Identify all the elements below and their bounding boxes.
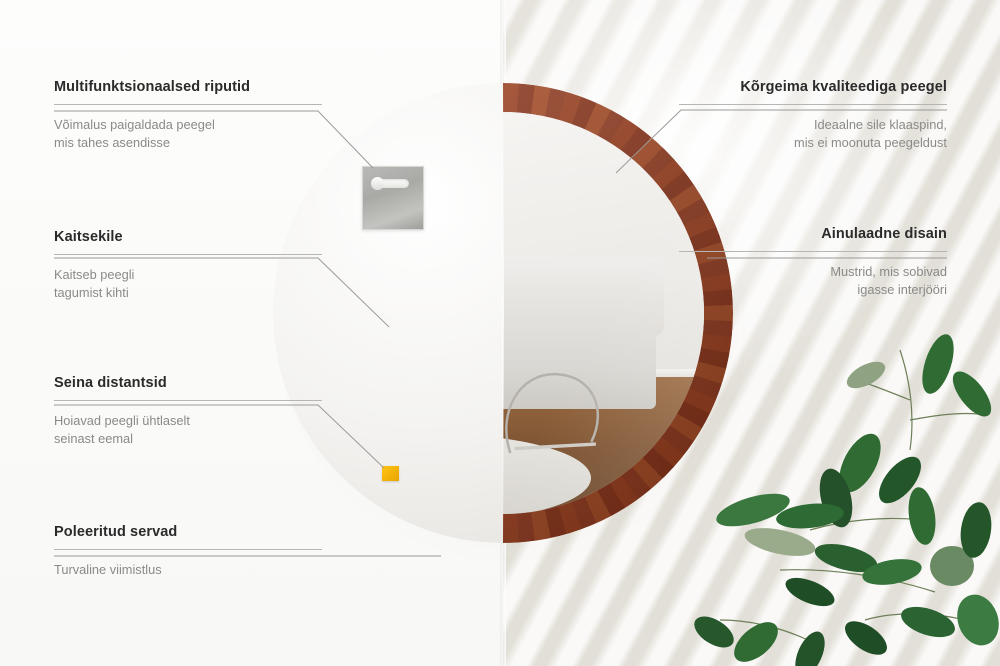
callout-title: Kaitsekile: [54, 229, 322, 245]
callout-ainulaadne-disain: Ainulaadne disain Mustrid, mis sobivad i…: [679, 226, 947, 299]
callout-body: Ideaalne sile klaaspind, mis ei moonuta …: [679, 116, 947, 152]
callout-body-line-1: Ideaalne sile klaaspind,: [814, 117, 947, 132]
callout-rule: [54, 549, 322, 550]
callout-poleeritud-servad: Poleeritud servad Turvaline viimistlus: [54, 524, 322, 579]
callout-body-line-2: seinast eemal: [54, 431, 133, 446]
callout-body: Võimalus paigaldada peegel mis tahes ase…: [54, 116, 322, 152]
callout-body: Mustrid, mis sobivad igasse interjööri: [679, 263, 947, 299]
callout-kaitsekile: Kaitsekile Kaitseb peegli tagumist kihti: [54, 229, 322, 302]
callout-body-line-2: mis tahes asendisse: [54, 135, 170, 150]
callout-body-line-2: mis ei moonuta peegeldust: [794, 135, 947, 150]
callout-title: Ainulaadne disain: [679, 226, 947, 242]
callout-rule: [679, 104, 947, 105]
callout-body-line-1: Võimalus paigaldada peegel: [54, 117, 215, 132]
callout-body-line-2: igasse interjööri: [857, 282, 947, 297]
callout-rule: [54, 254, 322, 255]
callout-rule: [54, 104, 322, 105]
callout-rule: [54, 400, 322, 401]
callout-body: Hoiavad peegli ühtlaselt seinast eemal: [54, 412, 322, 448]
foliage-decoration: [660, 320, 1000, 666]
callout-title: Seina distantsid: [54, 375, 322, 391]
keyhole-slot-icon: [375, 179, 409, 188]
callout-rule: [679, 251, 947, 252]
callout-title: Poleeritud servad: [54, 524, 322, 540]
callout-body-line-2: tagumist kihti: [54, 285, 129, 300]
callout-title: Kõrgeima kvaliteediga peegel: [679, 79, 947, 95]
callout-body: Kaitseb peegli tagumist kihti: [54, 266, 322, 302]
infographic-canvas: Multifunktsionaalsed riputid Võimalus pa…: [0, 0, 1000, 666]
mirror-half-seam: [502, 83, 504, 543]
callout-seina-distantsid: Seina distantsid Hoiavad peegli ühtlasel…: [54, 375, 322, 448]
callout-body-line-1: Mustrid, mis sobivad: [830, 264, 947, 279]
callout-body-line-1: Hoiavad peegli ühtlaselt: [54, 413, 190, 428]
callout-multifunktsionaalsed-riputid: Multifunktsionaalsed riputid Võimalus pa…: [54, 79, 322, 152]
callout-body: Turvaline viimistlus: [54, 561, 322, 579]
yellow-spacer: [382, 466, 399, 481]
callout-korgeima-kvaliteediga-peegel: Kõrgeima kvaliteediga peegel Ideaalne si…: [679, 79, 947, 152]
callout-body-line-1: Kaitseb peegli: [54, 267, 134, 282]
hanger-plate: [362, 166, 424, 230]
callout-title: Multifunktsionaalsed riputid: [54, 79, 322, 95]
leaves-icon: [660, 320, 1000, 666]
